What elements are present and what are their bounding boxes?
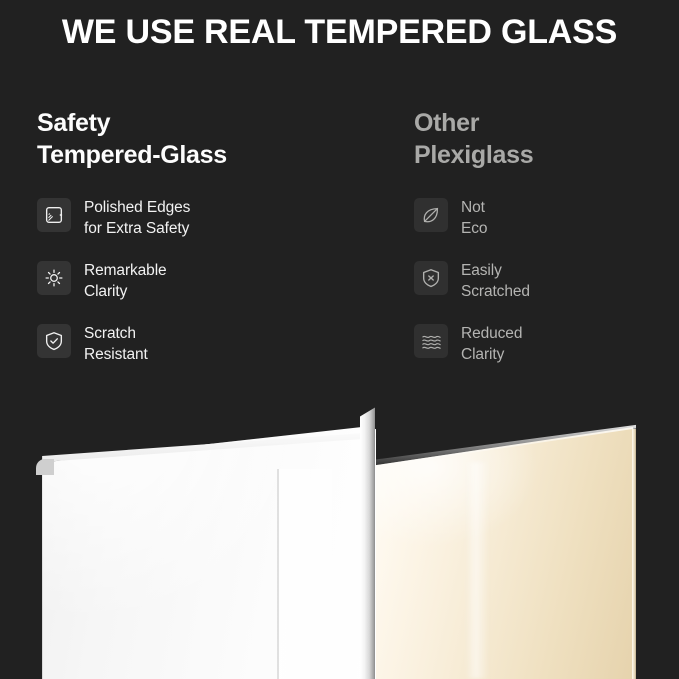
tempered-glass-panel-reflection-line <box>277 469 279 679</box>
feature-label: Scratch Resistant <box>84 323 148 365</box>
feature-label: Easily Scratched <box>461 260 530 302</box>
feature-row: Reduced Clarity <box>414 323 674 365</box>
comparison-infographic: WE USE REAL TEMPERED GLASS Safety Temper… <box>0 0 679 679</box>
feature-row: Scratch Resistant <box>37 323 387 365</box>
tempered-glass-panel-corner <box>36 459 54 475</box>
wavy-lines-icon <box>414 324 448 358</box>
shield-check-icon <box>37 324 71 358</box>
feature-label: Reduced Clarity <box>461 323 522 365</box>
feature-label: Remarkable Clarity <box>84 260 167 302</box>
feature-label: Not Eco <box>461 197 487 239</box>
plexiglass-panel-right-edge <box>632 429 636 679</box>
product-photo <box>0 395 679 679</box>
page-title: WE USE REAL TEMPERED GLASS <box>0 14 679 51</box>
column-title-plexiglass: Other Plexiglass <box>414 108 674 171</box>
sun-brightness-icon <box>37 261 71 295</box>
column-plexiglass: Other Plexiglass Not Eco Easily Scratche… <box>414 108 674 387</box>
plexiglass-panel <box>371 427 633 679</box>
feature-row: Not Eco <box>414 197 674 239</box>
leaf-slash-icon <box>414 198 448 232</box>
tempered-glass-panel-right-edge <box>360 407 375 679</box>
column-tempered-glass: Safety Tempered-Glass Polished Edges for… <box>37 108 387 387</box>
feature-row: Remarkable Clarity <box>37 260 387 302</box>
column-title-tempered-glass: Safety Tempered-Glass <box>37 108 387 171</box>
plexiglass-panel-glow <box>355 432 538 548</box>
polished-edge-sparkle-icon <box>37 198 71 232</box>
tempered-glass-panel-reflection <box>277 469 331 679</box>
plexiglass-panel-sheen <box>465 462 489 679</box>
feature-label: Polished Edges for Extra Safety <box>84 197 190 239</box>
feature-row: Easily Scratched <box>414 260 674 302</box>
shield-x-icon <box>414 261 448 295</box>
feature-row: Polished Edges for Extra Safety <box>37 197 387 239</box>
